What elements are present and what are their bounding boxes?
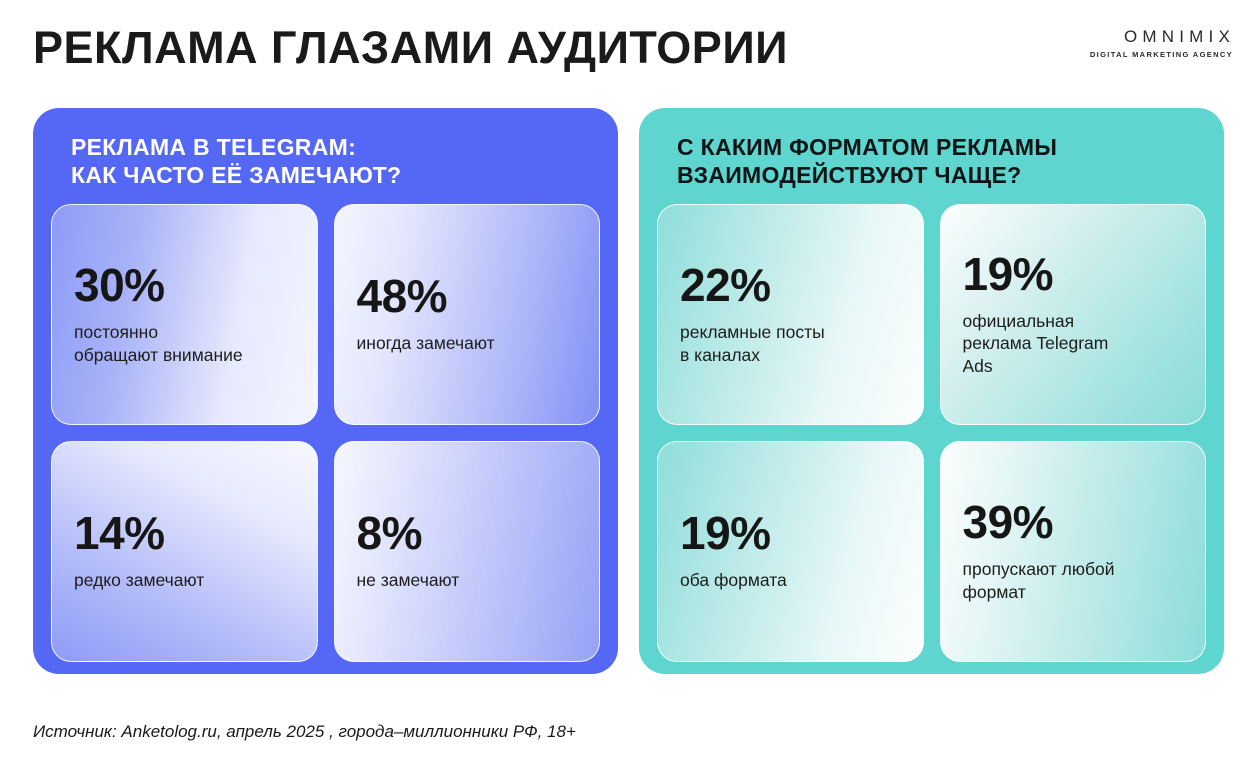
brand-logo: OMNIMIX DIGITAL MARKETING AGENCY: [1090, 28, 1235, 59]
stat-value: 14%: [74, 510, 295, 556]
stat-label: иногда замечают: [357, 332, 578, 354]
stat-card: 48% иногда замечают: [334, 204, 601, 425]
source-note: Источник: Anketolog.ru, апрель 2025 , го…: [33, 722, 576, 742]
page-title: РЕКЛАМА ГЛАЗАМИ АУДИТОРИИ: [33, 22, 788, 74]
stat-label: оба формата: [680, 569, 901, 591]
stat-card: 8% не замечают: [334, 441, 601, 662]
stat-label: официальная реклама Telegram Ads: [963, 310, 1184, 377]
logo-tagline: DIGITAL MARKETING AGENCY: [1090, 51, 1233, 59]
stat-value: 30%: [74, 262, 295, 308]
stat-value: 19%: [963, 251, 1184, 297]
stat-card: 14% редко замечают: [51, 441, 318, 662]
stat-value: 22%: [680, 262, 901, 308]
stat-value: 39%: [963, 499, 1184, 545]
panel-telegram-ad-awareness: РЕКЛАМА В TELEGRAM: КАК ЧАСТО ЕЁ ЗАМЕЧАЮ…: [33, 108, 618, 674]
panel-right-heading: С КАКИМ ФОРМАТОМ РЕКЛАМЫ ВЗАИМОДЕЙСТВУЮТ…: [677, 133, 1206, 190]
stat-card: 30% постоянно обращают внимание: [51, 204, 318, 425]
header: РЕКЛАМА ГЛАЗАМИ АУДИТОРИИ OMNIMIX DIGITA…: [0, 0, 1257, 100]
panel-left-heading: РЕКЛАМА В TELEGRAM: КАК ЧАСТО ЕЁ ЗАМЕЧАЮ…: [71, 133, 600, 190]
panel-left-card-grid: 30% постоянно обращают внимание 48% иног…: [51, 204, 600, 662]
stat-card: 19% официальная реклама Telegram Ads: [940, 204, 1207, 425]
stat-value: 8%: [357, 510, 578, 556]
stat-card: 19% оба формата: [657, 441, 924, 662]
stat-label: редко замечают: [74, 569, 295, 591]
stat-card: 22% рекламные посты в каналах: [657, 204, 924, 425]
stat-card: 39% пропускают любой формат: [940, 441, 1207, 662]
stat-value: 48%: [357, 273, 578, 319]
stat-label: рекламные посты в каналах: [680, 321, 901, 366]
panel-right-card-grid: 22% рекламные посты в каналах 19% официа…: [657, 204, 1206, 662]
stat-label: пропускают любой формат: [963, 558, 1184, 603]
logo-name: OMNIMIX: [1090, 28, 1235, 45]
stat-label: постоянно обращают внимание: [74, 321, 295, 366]
panel-ad-format-interaction: С КАКИМ ФОРМАТОМ РЕКЛАМЫ ВЗАИМОДЕЙСТВУЮТ…: [639, 108, 1224, 674]
infographic-page: РЕКЛАМА ГЛАЗАМИ АУДИТОРИИ OMNIMIX DIGITA…: [0, 0, 1257, 765]
stat-label: не замечают: [357, 569, 578, 591]
stat-value: 19%: [680, 510, 901, 556]
